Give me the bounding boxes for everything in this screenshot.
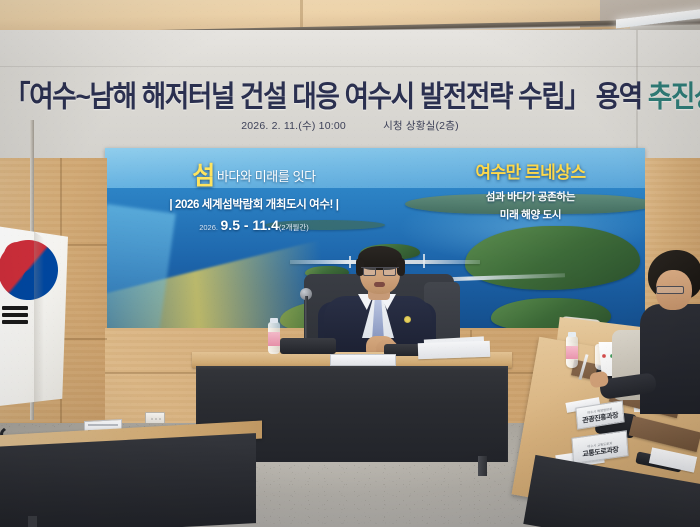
banner-dates: 9.5 - 11.4: [221, 217, 279, 233]
event-location: 시청 상황실(2층): [383, 120, 459, 132]
attendee-torso: [640, 304, 700, 414]
microphone-base: [280, 338, 336, 354]
event-title-accent: 추진상황 보고회: [648, 80, 700, 114]
event-title-main: 「여수~남해 해저터널 건설 대응 여수시 발전전략 수립」 용역: [4, 80, 648, 114]
meeting-room-photograph: 「여수~남해 해저터널 건설 대응 여수시 발전전략 수립」 용역 추진상황 보…: [0, 0, 700, 527]
table-leg: [478, 456, 487, 476]
attendee-glasses: [656, 286, 684, 294]
taeguk-red-half: [4, 242, 30, 268]
banner-duration: (2개월간): [279, 223, 309, 232]
banner-year: 2026.: [199, 223, 218, 232]
banner-headline: 섬바다와 미래를 잇다: [129, 156, 379, 192]
banner-logo-character: 섬: [192, 162, 215, 190]
wall-seam: [0, 66, 700, 67]
banner-date-range: 2026. 9.5 - 11.4(2개월간): [129, 217, 379, 233]
table-leg: [28, 516, 37, 527]
banner-slogan-title: 여수만 르네상스: [423, 158, 638, 183]
event-title-banner: 「여수~남해 해저터널 건설 대응 여수시 발전전략 수립」 용역 추진상황 보…: [4, 72, 700, 116]
flag-trigram-bar: [2, 306, 28, 310]
banner-island: [465, 226, 640, 290]
banner-right-textblock: 여수만 르네상스 섬과 바다가 공존하는 미래 해양 도시: [423, 158, 638, 222]
water-bottle-cap: [568, 332, 576, 337]
water-bottle-label: [268, 332, 280, 346]
document-sheet: [418, 341, 491, 360]
banner-subline: | 2026 세계섬박람회 개최도시 여수! |: [129, 196, 379, 212]
nameplate: [330, 354, 396, 366]
banner-headline-rest: 바다와 미래를 잇다: [217, 169, 316, 184]
flag-trigram-bar: [2, 320, 28, 324]
microphone-gooseneck: [305, 296, 308, 340]
nameplate-subtext-line: [88, 424, 118, 426]
water-bottle-cap: [270, 318, 278, 323]
speaker-glasses-lens: [383, 267, 396, 276]
speaker-glasses-lens: [363, 267, 376, 276]
banner-slogan-line2: 미래 해양 도시: [423, 207, 638, 222]
event-meta-row: 2026. 2. 11.(수) 10:00 시청 상황실(2층): [0, 118, 700, 133]
flag-trigram-bar: [2, 313, 28, 317]
attendee-person-right: [634, 250, 700, 420]
banner-left-textblock: 섬바다와 미래를 잇다 | 2026 세계섬박람회 개최도시 여수! | 202…: [129, 156, 379, 233]
speaker-mouth: [374, 282, 385, 287]
banner-slogan-line1: 섬과 바다가 공존하는: [423, 189, 638, 204]
left-table-front-panel: [0, 433, 256, 527]
flag-fold-shadow: [34, 228, 44, 404]
water-bottle-label: [566, 346, 578, 359]
event-datetime: 2026. 2. 11.(수) 10:00: [241, 120, 346, 132]
speaker-lapel-badge: [404, 316, 411, 323]
